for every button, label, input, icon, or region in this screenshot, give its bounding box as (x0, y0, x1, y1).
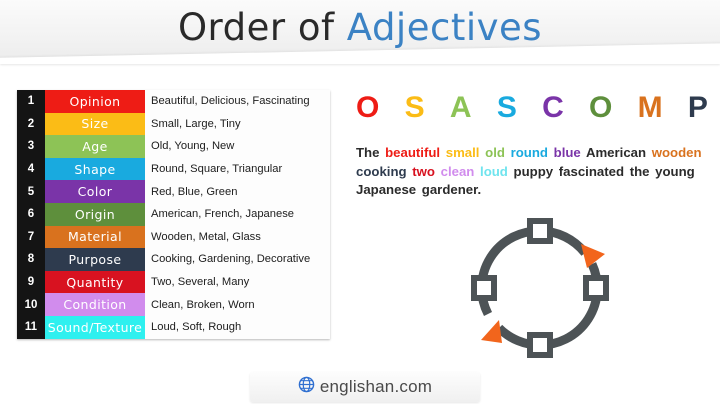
cycle-node-top (530, 221, 550, 241)
acronym-letter: A (450, 91, 472, 125)
globe-icon (298, 376, 315, 398)
row-category: Purpose (45, 248, 145, 271)
page-title-part1: Order of (178, 6, 335, 49)
table-body: 1OpinionBeautiful, Delicious, Fascinatin… (17, 90, 330, 339)
row-category: Opinion (45, 90, 145, 113)
row-examples: Red, Blue, Green (145, 180, 330, 203)
sentence-word: fascinated (559, 164, 624, 179)
osascomp-acronym: OSASCOMP (356, 91, 708, 125)
sentence-word: cooking (356, 164, 407, 179)
row-number: 11 (17, 316, 45, 339)
cycle-node-bottom (530, 335, 550, 355)
row-category: Color (45, 180, 145, 203)
row-category: Sound/Texture (45, 316, 145, 339)
sentence-word: The (356, 145, 379, 160)
acronym-letter: P (688, 91, 708, 125)
sentence-word: round (511, 145, 548, 160)
page-title: Order of Adjectives (0, 1, 720, 55)
example-sentence: The beautiful small old round blue Ameri… (356, 144, 704, 200)
row-category: Shape (45, 158, 145, 181)
arrow-head-bottom-left (481, 320, 502, 343)
table-row: 4ShapeRound, Square, Triangular (17, 158, 330, 181)
sentence-word: blue (554, 145, 581, 160)
page-title-space (335, 6, 347, 49)
table-row: 10ConditionClean, Broken, Worn (17, 293, 330, 316)
adjective-order-table: 1OpinionBeautiful, Delicious, Fascinatin… (17, 90, 330, 339)
row-number: 2 (17, 113, 45, 136)
row-examples: American, French, Japanese (145, 203, 330, 226)
row-examples: Cooking, Gardening, Decorative (145, 248, 330, 271)
sentence-word: puppy (514, 164, 554, 179)
row-number: 1 (17, 90, 45, 113)
table-row: 8PurposeCooking, Gardening, Decorative (17, 248, 330, 271)
row-number: 9 (17, 271, 45, 294)
row-number: 7 (17, 226, 45, 249)
row-number: 3 (17, 135, 45, 158)
acronym-letter: S (497, 91, 517, 125)
acronym-letter: S (405, 91, 425, 125)
table-row: 5ColorRed, Blue, Green (17, 180, 330, 203)
header-banner: Order of Adjectives (0, 0, 720, 64)
row-examples: Two, Several, Many (145, 271, 330, 294)
row-examples: Old, Young, New (145, 135, 330, 158)
row-examples: Beautiful, Delicious, Fascinating (145, 90, 330, 113)
table-row: 11Sound/TextureLoud, Soft, Rough (17, 316, 330, 339)
row-category: Origin (45, 203, 145, 226)
cycle-node-left (474, 278, 494, 298)
page-title-part2: Adjectives (347, 6, 542, 49)
sentence-word: old (485, 145, 505, 160)
row-examples: Round, Square, Triangular (145, 158, 330, 181)
sentence-word: gardener. (422, 182, 481, 197)
row-examples: Clean, Broken, Worn (145, 293, 330, 316)
row-category: Condition (45, 293, 145, 316)
cycle-node-right (586, 278, 606, 298)
table-row: 1OpinionBeautiful, Delicious, Fascinatin… (17, 90, 330, 113)
row-number: 6 (17, 203, 45, 226)
sentence-word: clean (441, 164, 475, 179)
row-category: Quantity (45, 271, 145, 294)
sentence-word: small (446, 145, 480, 160)
row-number: 10 (17, 293, 45, 316)
row-category: Age (45, 135, 145, 158)
row-category: Material (45, 226, 145, 249)
row-examples: Wooden, Metal, Glass (145, 226, 330, 249)
cycle-diagram (455, 216, 625, 366)
row-category: Size (45, 113, 145, 136)
acronym-letter: M (638, 91, 663, 125)
table-row: 2SizeSmall, Large, Tiny (17, 113, 330, 136)
sentence-word: two (412, 164, 435, 179)
table-row: 6OriginAmerican, French, Japanese (17, 203, 330, 226)
acronym-letter: C (542, 91, 564, 125)
row-number: 5 (17, 180, 45, 203)
sentence-word: American (586, 145, 646, 160)
row-number: 4 (17, 158, 45, 181)
row-number: 8 (17, 248, 45, 271)
acronym-letter: O (356, 91, 379, 125)
footer-brand[interactable]: englishan.com (250, 372, 480, 402)
table-row: 9QuantityTwo, Several, Many (17, 271, 330, 294)
sentence-word: wooden (652, 145, 702, 160)
brand-text: englishan.com (320, 377, 432, 397)
row-examples: Small, Large, Tiny (145, 113, 330, 136)
table-row: 7MaterialWooden, Metal, Glass (17, 226, 330, 249)
cycle-diagram-svg (455, 216, 625, 361)
sentence-word: the (630, 164, 650, 179)
sentence-word: beautiful (385, 145, 440, 160)
row-examples: Loud, Soft, Rough (145, 316, 330, 339)
acronym-letter: O (589, 91, 612, 125)
sentence-word: young (655, 164, 695, 179)
sentence-word: Japanese (356, 182, 416, 197)
table-row: 3AgeOld, Young, New (17, 135, 330, 158)
sentence-word: loud (480, 164, 508, 179)
